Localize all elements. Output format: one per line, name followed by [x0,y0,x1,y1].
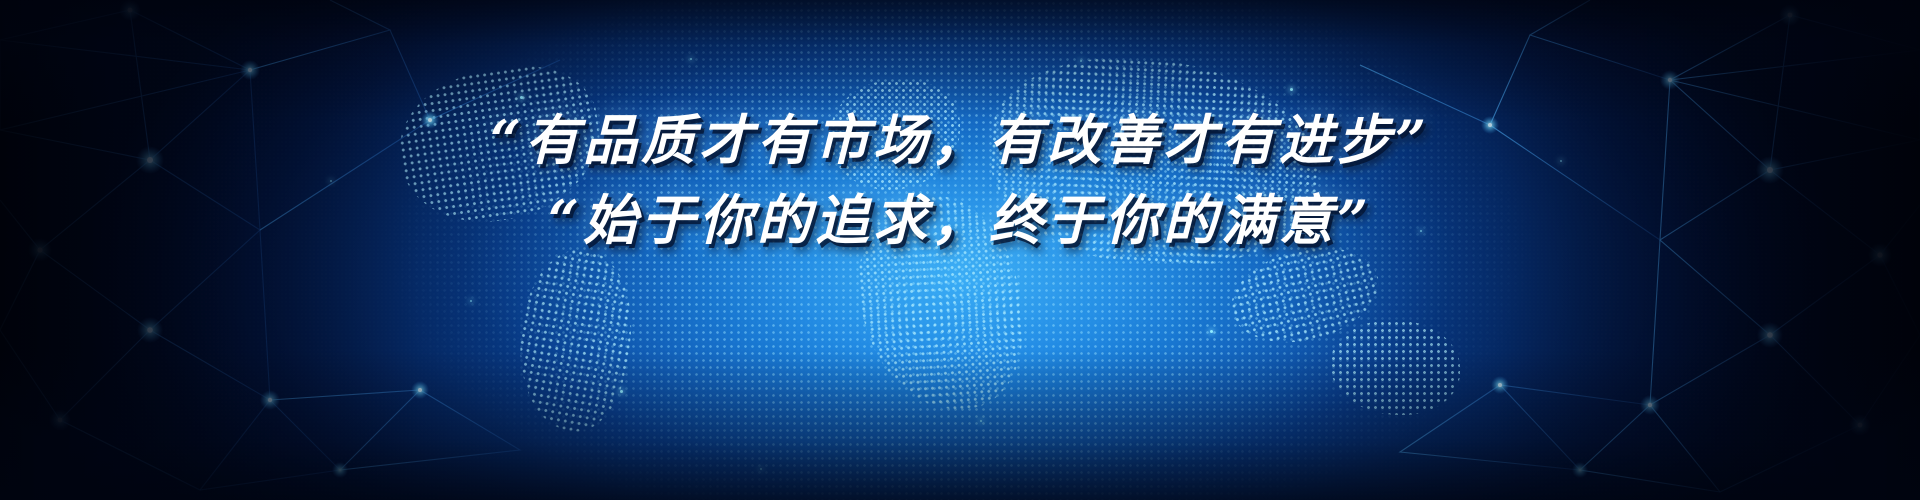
tech-banner: “有品质才有市场，有改善才有进步” “始于你的追求，终于你的满意” [0,0,1920,500]
headline-line-2: “始于你的追求，终于你的满意” [0,188,1920,252]
headline-block: “有品质才有市场，有改善才有进步” “始于你的追求，终于你的满意” [0,108,1920,252]
headline-line-1: “有品质才有市场，有改善才有进步” [0,108,1920,172]
